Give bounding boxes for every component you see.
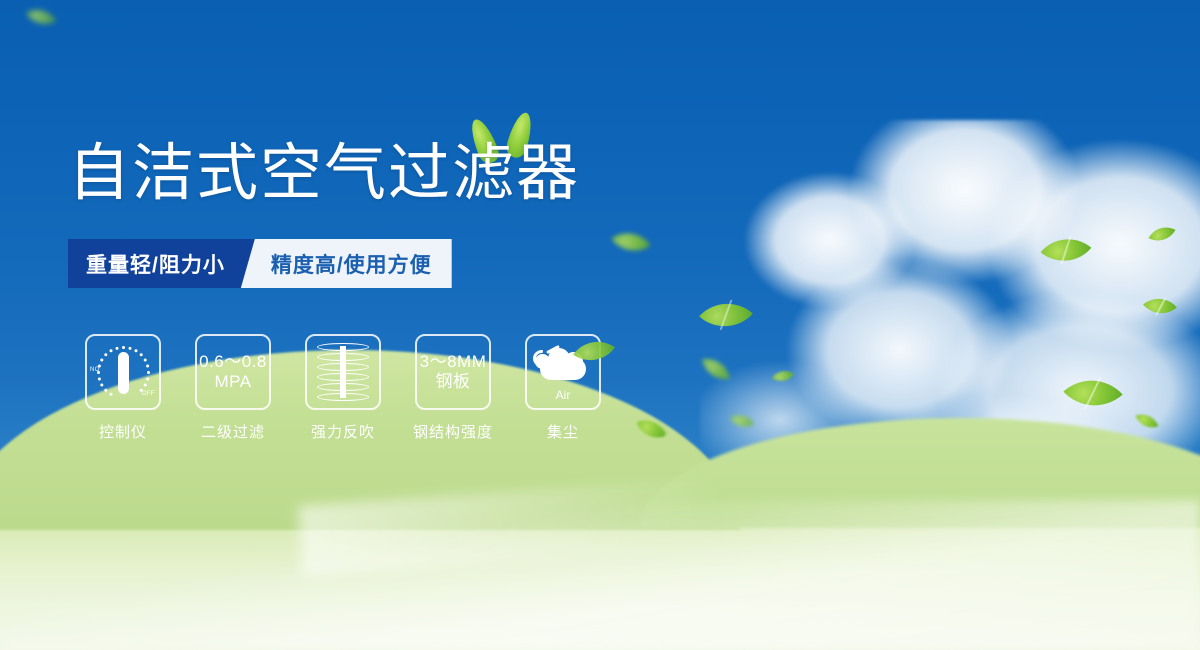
pressure-line-1: 0.6～0.8 <box>199 352 267 372</box>
feature-icon-box <box>305 334 381 410</box>
feature-item-controller[interactable]: NO OFF 控制仪 <box>68 334 178 442</box>
pressure-line-2: MPA <box>199 372 267 392</box>
grass-path-highlight <box>0 500 1200 650</box>
feature-label: 钢结构强度 <box>413 421 493 442</box>
pressure-text-icon: 0.6～0.8 MPA <box>199 352 267 391</box>
feature-icon-box: NO OFF <box>85 334 161 410</box>
cloud-base <box>540 358 586 380</box>
feature-label: 二级过滤 <box>201 421 265 442</box>
subtitle-right: 精度高/使用方便 <box>241 239 452 288</box>
grass-field <box>0 465 1200 650</box>
cloud-label: Air <box>532 388 594 402</box>
floating-leaf <box>702 355 730 383</box>
steel-plate-text-icon: 3～8MM 钢板 <box>420 352 487 391</box>
filter-coil-icon <box>317 343 369 401</box>
dial-label-on: NO <box>90 367 100 373</box>
dial-pointer <box>118 352 129 394</box>
subtitle-left: 重量轻/阻力小 <box>68 239 255 288</box>
subtitle-bar: 重量轻/阻力小 精度高/使用方便 <box>68 239 452 288</box>
feature-item-pressure[interactable]: 0.6～0.8 MPA 二级过滤 <box>178 334 288 442</box>
steel-line-1: 3～8MM <box>420 352 487 372</box>
page-title: 自洁式空气过滤器 <box>68 143 580 205</box>
feature-icon-box: 0.6～0.8 MPA <box>195 334 271 410</box>
feature-icon-box: 3～8MM 钢板 <box>415 334 491 410</box>
feature-list: NO OFF 控制仪 0.6～0.8 MPA 二级过滤 <box>68 334 618 442</box>
floating-leaf <box>26 2 56 32</box>
feature-label: 强力反吹 <box>311 421 375 442</box>
dial-gauge-icon: NO OFF <box>91 340 155 404</box>
floating-leaf <box>612 223 651 262</box>
feature-item-backblow[interactable]: 强力反吹 <box>288 334 398 442</box>
feature-item-steel[interactable]: 3～8MM 钢板 钢结构强度 <box>398 334 508 442</box>
product-hero-banner: 自洁式空气过滤器 重量轻/阻力小 精度高/使用方便 <box>0 0 1200 650</box>
feature-label: 集尘 <box>547 421 579 442</box>
feature-label: 控制仪 <box>99 421 147 442</box>
steel-line-2: 钢板 <box>420 372 487 392</box>
dial-label-off: OFF <box>142 391 155 397</box>
